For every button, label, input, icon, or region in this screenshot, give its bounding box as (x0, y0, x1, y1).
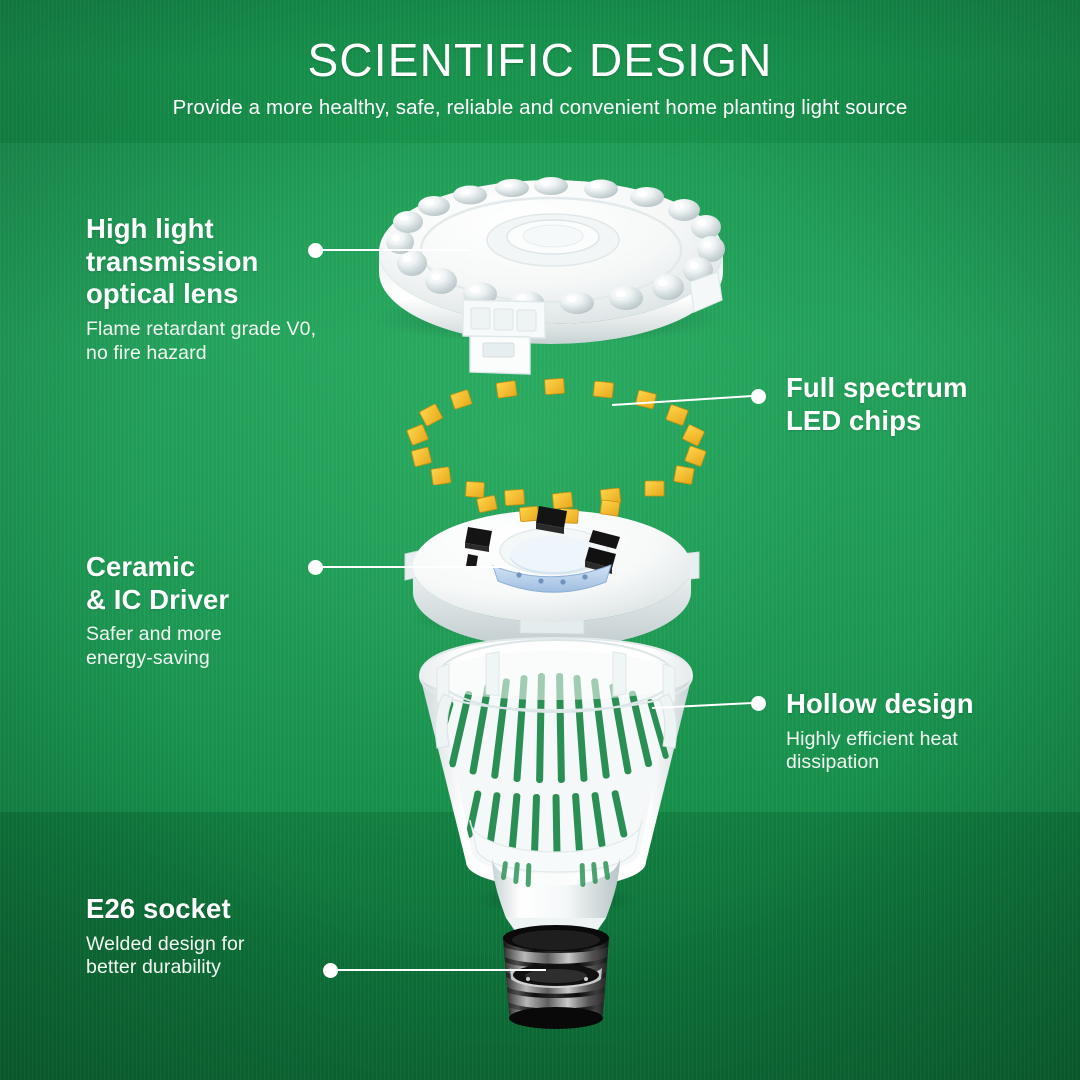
header: SCIENTIFIC DESIGN Provide a more healthy… (0, 0, 1080, 120)
callout-title-e26: E26 socket (86, 893, 386, 926)
callout-led-chips: Full spectrum LED chips (786, 372, 1066, 437)
callout-title-line: High light (86, 213, 214, 244)
callout-subtitle-ceramic: Safer and more energy-saving (86, 623, 386, 670)
callout-dot-hollow[interactable] (751, 696, 766, 711)
callout-subtitle-line: Flame retardant grade V0, (86, 318, 316, 340)
callout-title-line: transmission (86, 246, 258, 277)
callout-subtitle-hollow: Highly efficient heat dissipation (786, 728, 1076, 775)
callout-title-line: E26 socket (86, 893, 231, 924)
callout-title-line: LED chips (786, 405, 921, 436)
callout-subtitle-line: no fire hazard (86, 342, 207, 364)
page-title: SCIENTIFIC DESIGN (0, 0, 1080, 84)
callout-ceramic-ic-driver: Ceramic & IC Driver Safer and more energ… (86, 551, 386, 671)
callout-title-led-chips: Full spectrum LED chips (786, 372, 1066, 437)
callout-title-hollow: Hollow design (786, 688, 1076, 721)
callout-title-optical-lens: High light transmission optical lens (86, 213, 386, 311)
callout-subtitle-line: dissipation (786, 751, 879, 773)
callout-subtitle-e26: Welded design for better durability (86, 933, 386, 980)
callout-subtitle-line: Safer and more (86, 623, 222, 645)
callout-optical-lens: High light transmission optical lens Fla… (86, 213, 386, 365)
callout-title-line: & IC Driver (86, 584, 229, 615)
callout-subtitle-line: Welded design for (86, 933, 245, 955)
callout-title-line: Hollow design (786, 688, 974, 719)
callout-hollow-design: Hollow design Highly efficient heat diss… (786, 688, 1076, 775)
page-subtitle: Provide a more healthy, safe, reliable a… (0, 84, 1080, 120)
callout-subtitle-line: Highly efficient heat (786, 728, 958, 750)
callout-e26-socket: E26 socket Welded design for better dura… (86, 893, 386, 980)
callout-subtitle-line: better durability (86, 956, 221, 978)
callout-dot-led-chips[interactable] (751, 389, 766, 404)
callout-title-ceramic: Ceramic & IC Driver (86, 551, 386, 616)
callout-subtitle-line: energy-saving (86, 647, 210, 669)
poster-canvas: SCIENTIFIC DESIGN Provide a more healthy… (0, 0, 1080, 1080)
callout-subtitle-optical-lens: Flame retardant grade V0, no fire hazard (86, 318, 386, 365)
callout-title-line: optical lens (86, 278, 239, 309)
callout-title-line: Ceramic (86, 551, 195, 582)
callout-title-line: Full spectrum (786, 372, 968, 403)
